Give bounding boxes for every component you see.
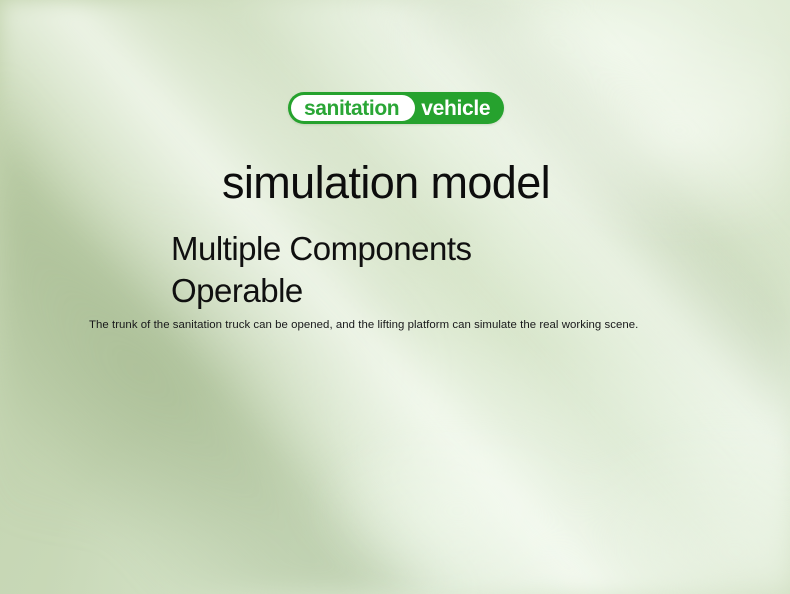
brand-logo-badge: sanitation vehicle [288,92,504,124]
page-subtitle: Multiple Components Operable [171,228,551,312]
brand-logo-word-vehicle: vehicle [421,98,490,119]
page-title: simulation model [222,160,550,205]
feature-description: The trunk of the sanitation truck can be… [89,318,703,334]
slide-content: sanitation vehicle simulation model Mult… [0,0,790,594]
product-feature-slide: sanitation vehicle simulation model Mult… [0,0,790,594]
brand-logo: sanitation vehicle [288,92,504,124]
brand-logo-word-sanitation: sanitation [304,98,399,119]
brand-logo-white-pill: sanitation [291,95,415,121]
